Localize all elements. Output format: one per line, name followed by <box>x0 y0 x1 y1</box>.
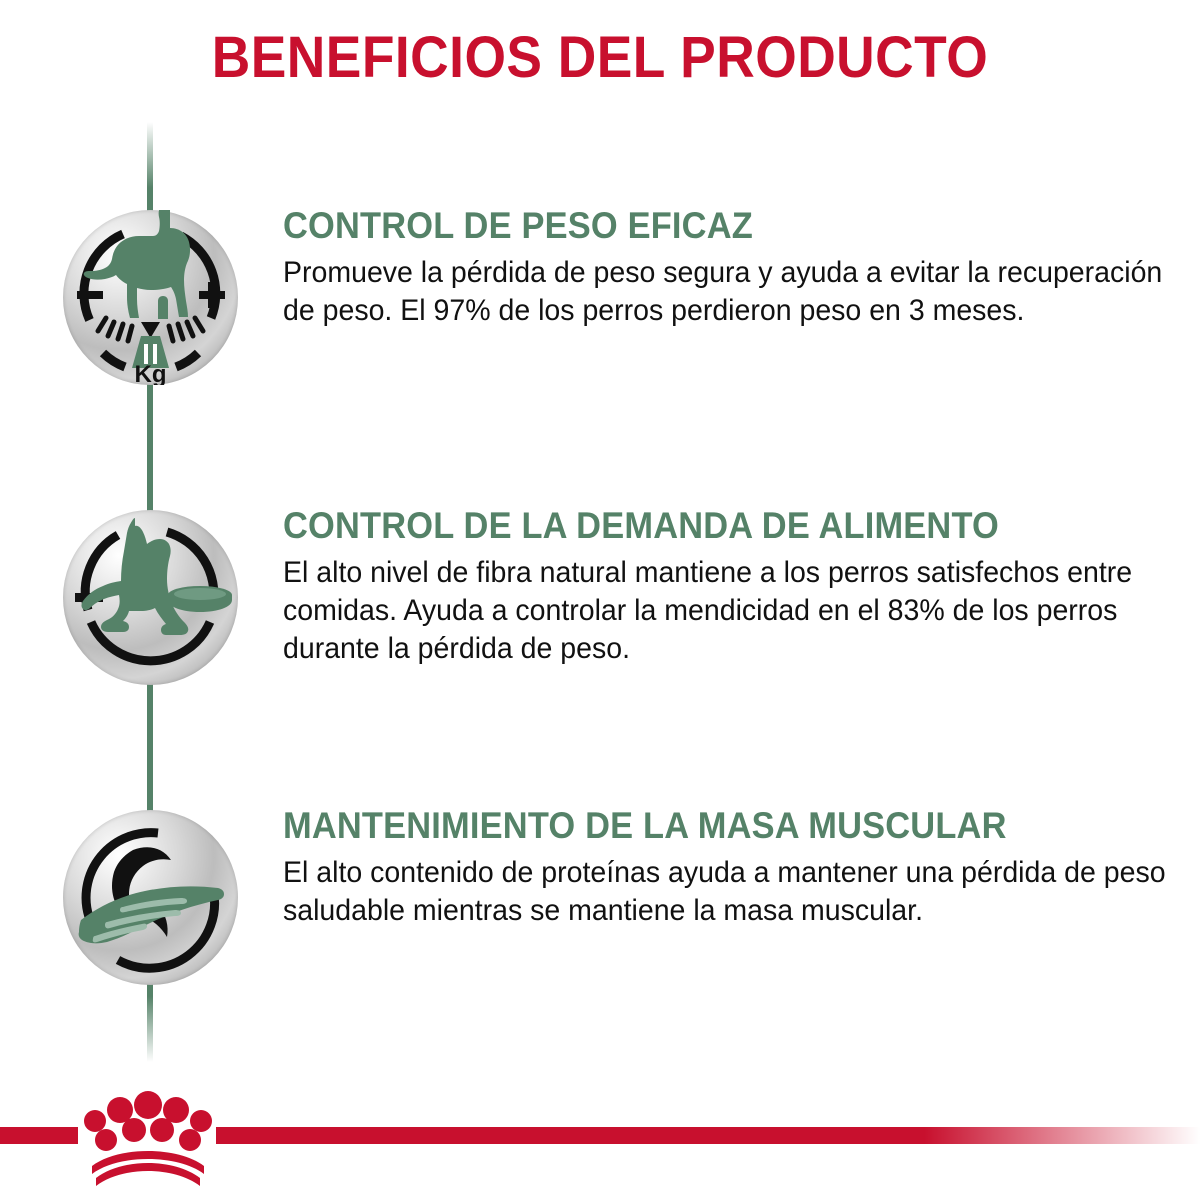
footer-bar-right <box>216 1127 1200 1144</box>
medallion-disc: Kg <box>63 210 238 385</box>
page-title: BENEFICIOS DEL PRODUCTO <box>48 24 1152 91</box>
product-benefits-page: BENEFICIOS DEL PRODUCTO <box>0 0 1200 1200</box>
benefit-heading: CONTROL DE LA DEMANDA DE ALIMENTO <box>283 505 1115 547</box>
benefit-icon-weight-scale-dog: Kg <box>63 210 238 385</box>
benefit-text-column: CONTROL DE LA DEMANDA DE ALIMENTO El alt… <box>283 505 1178 668</box>
footer-bar-left <box>0 1127 78 1144</box>
medallion-disc <box>63 810 238 985</box>
footer <box>0 1080 1200 1200</box>
benefit-heading: MANTENIMIENTO DE LA MASA MUSCULAR <box>283 805 1115 847</box>
benefit-heading: CONTROL DE PESO EFICAZ <box>283 205 1115 247</box>
svg-text:Kg: Kg <box>135 361 167 385</box>
benefit-text-column: CONTROL DE PESO EFICAZ Promueve la pérdi… <box>283 205 1178 330</box>
benefit-icon-muscle-fiber <box>63 810 238 985</box>
benefit-description: El alto nivel de fibra natural mantiene … <box>283 554 1176 668</box>
benefit-description: Promueve la pérdida de peso segura y ayu… <box>283 254 1176 330</box>
royal-canin-crown-logo <box>78 1088 218 1192</box>
benefit-icon-dog-with-food-bowl <box>63 510 238 685</box>
medallion-disc <box>63 510 238 685</box>
benefit-text-column: MANTENIMIENTO DE LA MASA MUSCULAR El alt… <box>283 805 1178 930</box>
benefit-description: El alto contenido de proteínas ayuda a m… <box>283 854 1176 930</box>
